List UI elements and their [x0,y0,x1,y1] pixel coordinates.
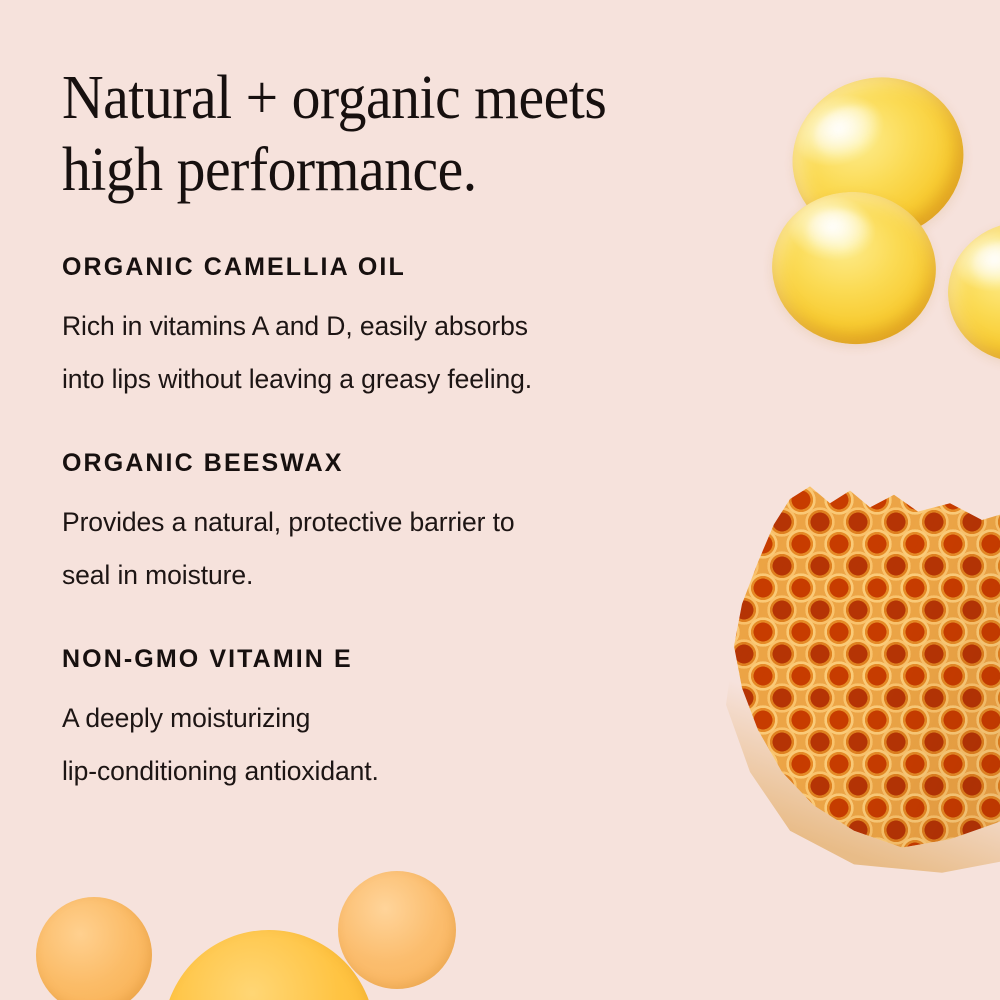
page-headline: Natural + organic meets high performance… [62,62,713,206]
benefit-title: ORGANIC CAMELLIA OIL [62,252,762,282]
honey-droplet-left-icon [762,181,946,354]
honey-circle-medium-icon [338,871,456,989]
honey-circle-large-icon [163,930,375,1000]
honey-droplet-top-icon [771,55,984,260]
benefit-description: Provides a natural, protective barrier t… [62,496,762,602]
honey-droplet-right-icon [941,215,1000,370]
honey-circle-small-icon [36,897,152,1000]
content-column: Natural + organic meets high performance… [62,62,762,798]
benefit-description: Rich in vitamins A and D, easily absorbs… [62,300,762,406]
benefit-title: ORGANIC BEESWAX [62,448,762,478]
marketing-banner: Natural + organic meets high performance… [0,0,1000,1000]
benefit-item-camellia-oil: ORGANIC CAMELLIA OIL Rich in vitamins A … [62,252,762,406]
benefit-item-vitamin-e: NON-GMO VITAMIN E A deeply moisturizing … [62,644,762,798]
benefit-item-beeswax: ORGANIC BEESWAX Provides a natural, prot… [62,448,762,602]
benefit-title: NON-GMO VITAMIN E [62,644,762,674]
benefit-list: ORGANIC CAMELLIA OIL Rich in vitamins A … [62,252,762,798]
benefit-description: A deeply moisturizing lip-conditioning a… [62,692,762,798]
